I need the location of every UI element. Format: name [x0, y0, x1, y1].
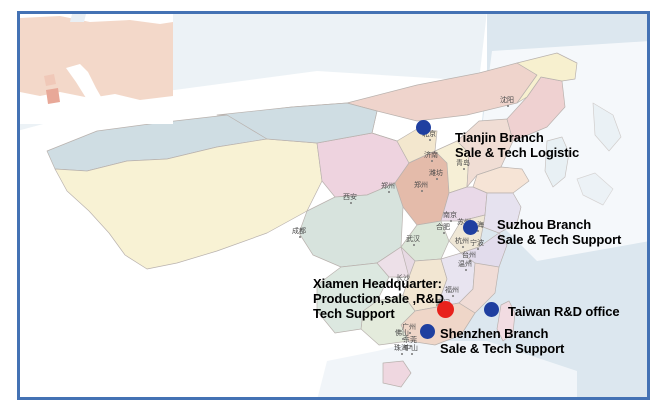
city-dot-icon [388, 191, 390, 193]
city-label: 郑州 [414, 182, 428, 189]
city-dot-icon [450, 220, 452, 222]
city-dot-icon [401, 353, 403, 355]
city-label: 宁波 [470, 240, 484, 247]
city-dot-icon [431, 160, 433, 162]
city-label: 广州 [402, 324, 416, 331]
map-label-tianjin: Tianjin BranchSale & Tech Logistic [455, 130, 579, 160]
city-label: 青岛 [456, 160, 470, 167]
city-label: 西安 [343, 194, 357, 201]
inset-map-svg [20, 14, 173, 124]
city-label: 沈阳 [500, 97, 514, 104]
city-dot-icon [462, 246, 464, 248]
map-marker-taiwan[interactable] [484, 302, 499, 317]
city-dot-icon [299, 236, 301, 238]
map-label-shenzhen: Shenzhen BranchSale & Tech Support [440, 326, 564, 356]
city-dot-icon [477, 248, 479, 250]
map-label-taiwan: Taiwan R&D office [508, 304, 619, 319]
city-label: 珠海 [394, 345, 408, 352]
map-label-line: Suzhou Branch [497, 217, 621, 232]
city-label: 合肥 [436, 224, 450, 231]
city-dot-icon [443, 232, 445, 234]
map-label-line: Tianjin Branch [455, 130, 579, 145]
map-label-line: Xiamen Headquarter: [313, 276, 444, 291]
city-label: 武汉 [406, 236, 420, 243]
map-label-line: Taiwan R&D office [508, 304, 619, 319]
city-dot-icon [350, 202, 352, 204]
map-label-line: Shenzhen Branch [440, 326, 564, 341]
map-marker-shenzhen[interactable] [420, 324, 435, 339]
city-label: 温州 [458, 261, 472, 268]
map-marker-tianjin[interactable] [416, 120, 431, 135]
map-label-line: Sale & Tech Support [497, 232, 621, 247]
city-dot-icon [452, 295, 454, 297]
city-label: 福州 [445, 287, 459, 294]
map-graphic: 沈阳北京济南青岛郑州潍坊西安成都郑州南京上海苏州武汉合肥杭州宁波台州温州长沙福州… [0, 0, 670, 416]
city-dot-icon [421, 190, 423, 192]
city-label: 潍坊 [429, 170, 443, 177]
city-dot-icon [463, 168, 465, 170]
map-label-line: Sale & Tech Support [440, 341, 564, 356]
city-dot-icon [436, 178, 438, 180]
inset-map-panel [20, 14, 173, 124]
map-label-xiamen: Xiamen Headquarter:Production,sale ,R&DT… [313, 276, 444, 321]
map-label-line: Tech Support [313, 306, 444, 321]
city-dot-icon [411, 353, 413, 355]
city-label: 成都 [292, 228, 306, 235]
city-label: 郑州 [381, 183, 395, 190]
city-label: 东莞 [403, 337, 417, 344]
city-dot-icon [413, 244, 415, 246]
map-label-line: Sale & Tech Logistic [455, 145, 579, 160]
city-label: 济南 [424, 152, 438, 159]
city-label: 南京 [443, 212, 457, 219]
map-label-line: Production,sale ,R&D [313, 291, 444, 306]
city-dot-icon [465, 269, 467, 271]
city-dot-icon [409, 332, 411, 334]
city-label: 台州 [462, 252, 476, 259]
map-label-suzhou: Suzhou BranchSale & Tech Support [497, 217, 621, 247]
map-marker-suzhou[interactable] [463, 220, 478, 235]
city-dot-icon [429, 139, 431, 141]
city-label: 杭州 [455, 238, 469, 245]
city-dot-icon [507, 105, 509, 107]
